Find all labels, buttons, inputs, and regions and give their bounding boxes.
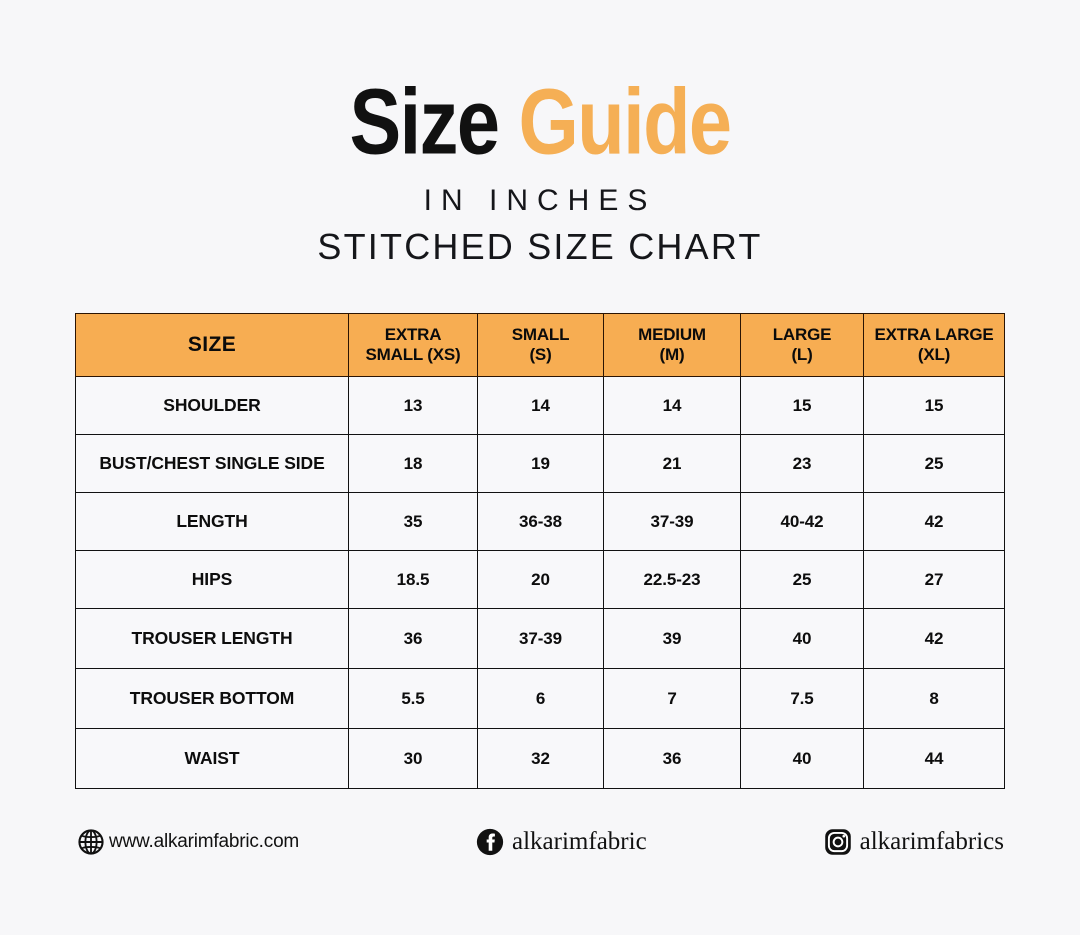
table-row: WAIST 30 32 36 40 44 bbox=[76, 729, 1005, 789]
column-header-l-line-2: (L) bbox=[745, 345, 859, 365]
cell-shoulder-s: 14 bbox=[478, 377, 604, 435]
row-label-bust-chest-single-side: BUST/CHEST SINGLE SIDE bbox=[76, 435, 349, 493]
table-row: SHOULDER 13 14 14 15 15 bbox=[76, 377, 1005, 435]
cell-trouser-length-xl: 42 bbox=[864, 609, 1005, 669]
title-block: Size Guide IN INCHES STITCHED SIZE CHART bbox=[0, 0, 1080, 266]
table-header: SIZE EXTRA SMALL (XS) SMALL (S) MEDIUM (… bbox=[76, 314, 1005, 377]
table-body: SHOULDER 13 14 14 15 15 BUST/CHEST SINGL… bbox=[76, 377, 1005, 789]
cell-waist-xl: 44 bbox=[864, 729, 1005, 789]
cell-trouser-bottom-xs: 5.5 bbox=[349, 669, 478, 729]
column-header-s-line-1: SMALL bbox=[482, 325, 599, 345]
column-header-m-line-1: MEDIUM bbox=[608, 325, 736, 345]
column-header-s: SMALL (S) bbox=[478, 314, 604, 377]
column-header-l-line-1: LARGE bbox=[745, 325, 859, 345]
cell-length-m: 37-39 bbox=[604, 493, 741, 551]
cell-hips-m: 22.5-23 bbox=[604, 551, 741, 609]
column-header-xl: EXTRA LARGE (XL) bbox=[864, 314, 1005, 377]
cell-length-xl: 42 bbox=[864, 493, 1005, 551]
cell-trouser-length-m: 39 bbox=[604, 609, 741, 669]
facebook-icon bbox=[476, 828, 504, 856]
subtitle-chart-type: STITCHED SIZE CHART bbox=[0, 227, 1080, 267]
cell-bust-s: 19 bbox=[478, 435, 604, 493]
cell-hips-xs: 18.5 bbox=[349, 551, 478, 609]
footer-facebook-text: alkarimfabric bbox=[508, 828, 647, 856]
row-label-trouser-length: TROUSER LENGTH bbox=[76, 609, 349, 669]
globe-icon bbox=[77, 828, 105, 856]
cell-trouser-bottom-s: 6 bbox=[478, 669, 604, 729]
cell-trouser-length-l: 40 bbox=[741, 609, 864, 669]
table-row: BUST/CHEST SINGLE SIDE 18 19 21 23 25 bbox=[76, 435, 1005, 493]
row-label-length: LENGTH bbox=[76, 493, 349, 551]
column-header-m-line-2: (M) bbox=[608, 345, 736, 365]
footer-website[interactable]: www.alkarimfabric.com bbox=[77, 828, 299, 856]
footer: www.alkarimfabric.com alkarimfabric bbox=[75, 812, 1004, 872]
column-header-xl-line-2: (XL) bbox=[868, 345, 1000, 365]
cell-shoulder-m: 14 bbox=[604, 377, 741, 435]
cell-bust-m: 21 bbox=[604, 435, 741, 493]
cell-waist-l: 40 bbox=[741, 729, 864, 789]
column-header-size: SIZE bbox=[76, 314, 349, 377]
cell-trouser-bottom-xl: 8 bbox=[864, 669, 1005, 729]
table-header-row: SIZE EXTRA SMALL (XS) SMALL (S) MEDIUM (… bbox=[76, 314, 1005, 377]
cell-shoulder-xl: 15 bbox=[864, 377, 1005, 435]
cell-bust-xs: 18 bbox=[349, 435, 478, 493]
table-row: HIPS 18.5 20 22.5-23 25 27 bbox=[76, 551, 1005, 609]
cell-waist-xs: 30 bbox=[349, 729, 478, 789]
size-chart-table-container: SIZE EXTRA SMALL (XS) SMALL (S) MEDIUM (… bbox=[75, 313, 1004, 789]
column-header-m: MEDIUM (M) bbox=[604, 314, 741, 377]
size-chart-table: SIZE EXTRA SMALL (XS) SMALL (S) MEDIUM (… bbox=[75, 313, 1005, 789]
column-header-xs-line-2: SMALL (XS) bbox=[353, 345, 473, 365]
page-title: Size Guide bbox=[0, 74, 1080, 171]
cell-shoulder-xs: 13 bbox=[349, 377, 478, 435]
cell-bust-l: 23 bbox=[741, 435, 864, 493]
row-label-shoulder: SHOULDER bbox=[76, 377, 349, 435]
cell-trouser-length-xs: 36 bbox=[349, 609, 478, 669]
cell-length-l: 40-42 bbox=[741, 493, 864, 551]
footer-facebook[interactable]: alkarimfabric bbox=[299, 828, 824, 856]
instagram-icon bbox=[824, 828, 852, 856]
page-title-part-1: Size bbox=[349, 70, 518, 174]
column-header-l: LARGE (L) bbox=[741, 314, 864, 377]
cell-shoulder-l: 15 bbox=[741, 377, 864, 435]
cell-length-xs: 35 bbox=[349, 493, 478, 551]
subtitle-units: IN INCHES bbox=[0, 184, 1080, 217]
table-row: TROUSER LENGTH 36 37-39 39 40 42 bbox=[76, 609, 1005, 669]
page-title-part-2: Guide bbox=[519, 70, 731, 174]
cell-hips-l: 25 bbox=[741, 551, 864, 609]
column-header-xs: EXTRA SMALL (XS) bbox=[349, 314, 478, 377]
cell-hips-xl: 27 bbox=[864, 551, 1005, 609]
cell-trouser-bottom-l: 7.5 bbox=[741, 669, 864, 729]
cell-bust-xl: 25 bbox=[864, 435, 1005, 493]
cell-length-s: 36-38 bbox=[478, 493, 604, 551]
cell-trouser-bottom-m: 7 bbox=[604, 669, 741, 729]
cell-trouser-length-s: 37-39 bbox=[478, 609, 604, 669]
footer-instagram-text: alkarimfabrics bbox=[856, 828, 1004, 856]
row-label-hips: HIPS bbox=[76, 551, 349, 609]
cell-hips-s: 20 bbox=[478, 551, 604, 609]
footer-website-text: www.alkarimfabric.com bbox=[109, 831, 299, 853]
table-row: TROUSER BOTTOM 5.5 6 7 7.5 8 bbox=[76, 669, 1005, 729]
column-header-xs-line-1: EXTRA bbox=[353, 325, 473, 345]
column-header-s-line-2: (S) bbox=[482, 345, 599, 365]
row-label-waist: WAIST bbox=[76, 729, 349, 789]
column-header-size-line-1: SIZE bbox=[80, 333, 344, 357]
footer-instagram[interactable]: alkarimfabrics bbox=[824, 828, 1004, 856]
column-header-xl-line-1: EXTRA LARGE bbox=[868, 325, 1000, 345]
cell-waist-m: 36 bbox=[604, 729, 741, 789]
row-label-trouser-bottom: TROUSER BOTTOM bbox=[76, 669, 349, 729]
table-row: LENGTH 35 36-38 37-39 40-42 42 bbox=[76, 493, 1005, 551]
cell-waist-s: 32 bbox=[478, 729, 604, 789]
size-guide-page: Size Guide IN INCHES STITCHED SIZE CHART… bbox=[0, 0, 1080, 935]
